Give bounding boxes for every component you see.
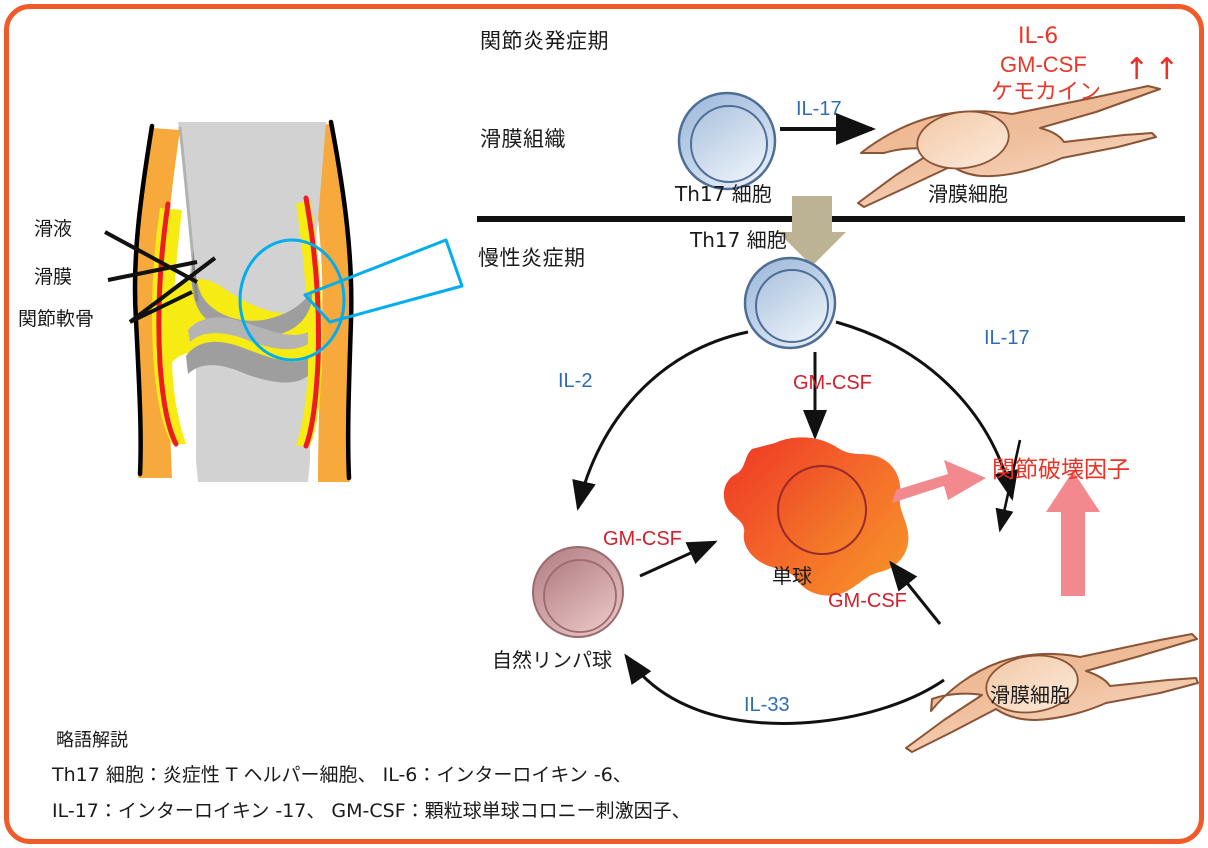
- cytokine-il17-acute: IL-17: [796, 98, 842, 121]
- chronic-panel-art: [533, 258, 1198, 752]
- destruction-arrow-from-synoviocyte: [1046, 471, 1100, 596]
- cytokine-il2: IL-2: [558, 370, 592, 393]
- cytokine-gmcsf-th17: GM-CSF: [793, 372, 872, 395]
- monocyte: [724, 437, 909, 595]
- monocyte-label: 単球: [772, 564, 812, 589]
- figure-canvas: 滑液 滑膜 関節軟骨 関節炎発症期 滑膜組織 IL-17 Th17 細胞 滑膜細…: [0, 0, 1208, 848]
- legend-line-2: IL-17：インターロイキン -17、 GM-CSF：顆粒球単球コロニー刺激因子…: [52, 796, 691, 823]
- synoviocyte-label-chronic: 滑膜細胞: [990, 683, 1070, 708]
- joint-destruction-factor: 関節破壊因子: [992, 450, 1130, 484]
- output-il6: IL-6: [1018, 22, 1058, 51]
- th17-label-chronic: Th17 細胞: [690, 228, 787, 253]
- ilc-label: 自然リンパ球: [492, 648, 612, 673]
- upregulation-arrows: ↑↑: [1124, 52, 1184, 87]
- th17-label-acute: Th17 細胞: [675, 182, 772, 207]
- output-chemokine: ケモカイン: [991, 78, 1101, 107]
- acute-phase-title: 関節炎発症期: [480, 28, 609, 54]
- label-synovium: 滑膜: [34, 266, 72, 290]
- transition-arrow: [778, 196, 846, 266]
- destruction-arrow-from-monocyte: [892, 460, 986, 503]
- joint-cross-section: [105, 122, 462, 482]
- cytokine-il17-chronic: IL-17: [984, 327, 1030, 350]
- output-gmcsf: GM-CSF: [1000, 50, 1087, 79]
- legend-heading: 略語解説: [56, 726, 128, 752]
- synovial-tissue-label: 滑膜組織: [480, 126, 566, 152]
- cytokine-il33: IL-33: [744, 694, 790, 717]
- label-articular-cartilage: 関節軟骨: [18, 308, 94, 332]
- label-synovial-fluid: 滑液: [34, 218, 72, 242]
- synoviocyte-label-acute: 滑膜細胞: [928, 182, 1008, 207]
- chronic-phase-title: 慢性炎症期: [478, 245, 586, 271]
- cytokine-gmcsf-synoviocyte: GM-CSF: [828, 590, 907, 613]
- diagram-artwork: [0, 0, 1208, 848]
- cytokine-gmcsf-ilc: GM-CSF: [603, 528, 682, 551]
- legend-line-1: Th17 細胞：炎症性 T ヘルパー細胞、 IL-6：インターロイキン -6、: [52, 760, 632, 787]
